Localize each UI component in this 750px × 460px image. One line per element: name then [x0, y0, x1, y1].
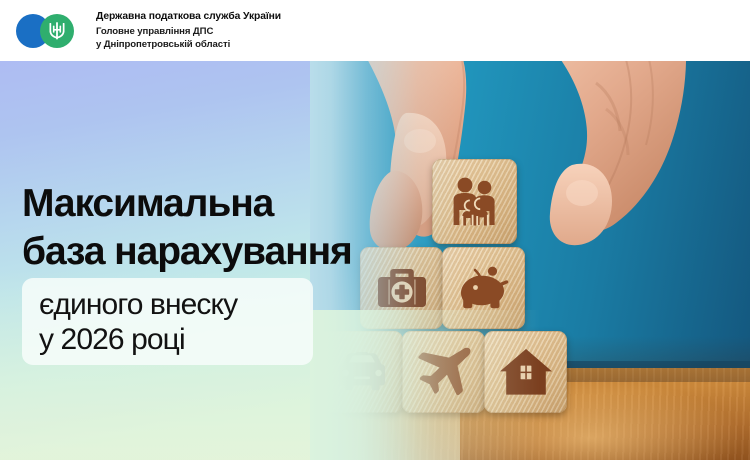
- site-header: Державна податкова служба України Головн…: [0, 0, 750, 61]
- subtitle-box: єдиного внеску у 2026 році: [22, 278, 313, 365]
- agency-department: Головне управління ДПС: [96, 26, 281, 39]
- headline-line-1: Максимальна: [22, 182, 273, 225]
- photo-region: [310, 61, 750, 460]
- piggybank-icon: [458, 266, 510, 310]
- headline-line-2: база нарахування: [22, 228, 352, 276]
- subtitle-line-2: у 2026 році: [39, 322, 313, 357]
- page-title: Максимальна база нарахування: [22, 180, 352, 276]
- promo-banner: Державна податкова служба України Головн…: [0, 0, 750, 460]
- agency-logo: [14, 11, 92, 51]
- hero-stage: Максимальна база нарахування єдиного вне…: [0, 61, 750, 460]
- agency-titles: Державна податкова служба України Головн…: [96, 10, 281, 51]
- ukraine-trident-icon: [48, 21, 66, 41]
- photo-bottom-fade: [310, 310, 540, 460]
- subtitle-line-1: єдиного внеску: [39, 287, 313, 322]
- agency-region: у Дніпропетровській області: [96, 39, 281, 52]
- agency-name: Державна податкова служба України: [96, 10, 281, 23]
